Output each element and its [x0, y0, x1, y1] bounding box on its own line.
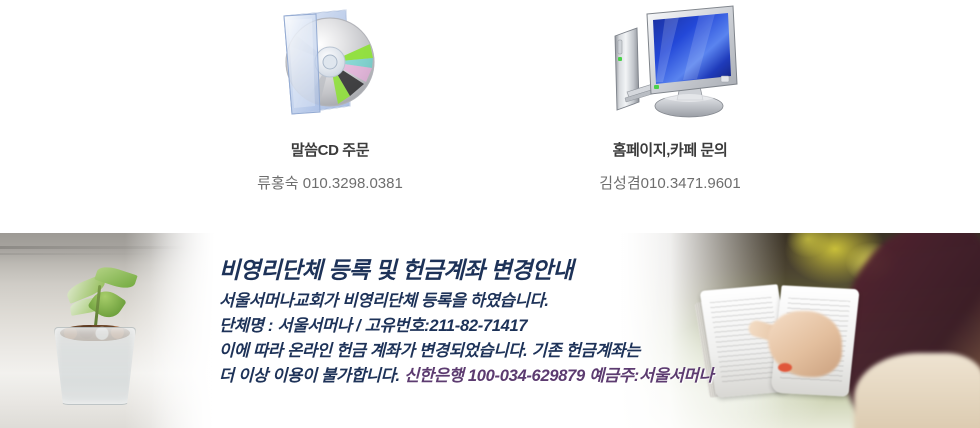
desktop-computer-icon	[540, 2, 800, 127]
contact-phone: 김성겸010.3471.9601	[540, 172, 800, 193]
contact-title: 말씀CD 주문	[200, 139, 460, 160]
photo-shelf-line-secondary	[0, 253, 150, 255]
contact-card-cd-order[interactable]: 말씀CD 주문 류홍숙 010.3298.0381	[200, 2, 460, 193]
contact-strip: 말씀CD 주문 류홍숙 010.3298.0381	[0, 0, 980, 233]
banner-line-3: 이에 따라 온라인 헌금 계좌가 변경되었습니다. 기존 헌금계좌는	[219, 339, 839, 364]
banner-line-1: 서울서머나교회가 비영리단체 등록을 하였습니다.	[219, 289, 839, 314]
contact-phone: 류홍숙 010.3298.0381	[200, 172, 460, 193]
contact-card-website-inquiry[interactable]: 홈페이지,카페 문의 김성겸010.3471.9601	[540, 2, 800, 193]
cd-case-icon	[200, 2, 460, 127]
desktop-computer-icon-svg	[603, 2, 738, 127]
banner-text-block: 비영리단체 등록 및 헌금계좌 변경안내 서울서머나교회가 비영리단체 등록을 …	[219, 255, 839, 389]
notice-banner[interactable]: 비영리단체 등록 및 헌금계좌 변경안내 서울서머나교회가 비영리단체 등록을 …	[0, 233, 980, 428]
coins-inside-jar	[58, 333, 132, 397]
banner-line-2: 단체명 : 서울서머나 / 고유번호:211-82-71417	[219, 314, 839, 339]
contact-title: 홈페이지,카페 문의	[540, 139, 800, 160]
cd-case-icon-svg	[270, 2, 390, 127]
banner-headline: 비영리단체 등록 및 헌금계좌 변경안내	[219, 255, 839, 285]
banner-line-4-prefix: 더 이상 이용이 불가합니다.	[219, 367, 404, 385]
bank-account-highlight: 신한은행 100-034-629879 예금주:서울서머나	[404, 367, 713, 385]
banner-line-4: 더 이상 이용이 불가합니다. 신한은행 100-034-629879 예금주:…	[219, 364, 839, 389]
